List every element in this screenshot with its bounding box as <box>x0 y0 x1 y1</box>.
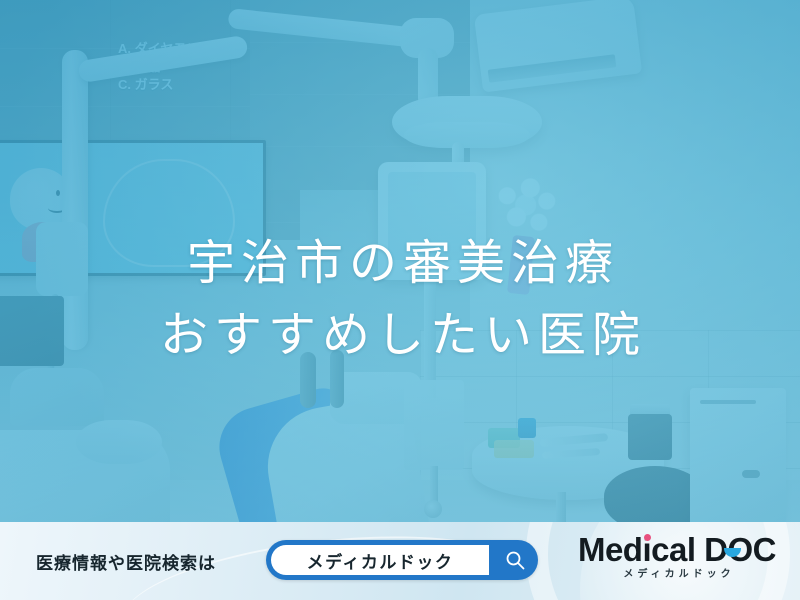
search-icon[interactable] <box>504 549 526 571</box>
page-title: 宇治市の審美治療 おすすめしたい医院 <box>0 228 800 372</box>
brand-wordmark: Medical DOC <box>578 531 776 568</box>
search-pill[interactable]: メディカルドック <box>266 540 538 580</box>
brand-logo[interactable]: Medical DOC メディカルドック <box>572 532 782 586</box>
logo-i-dot <box>644 534 651 541</box>
banner-image: A. ダイヤモンド B. 水晶 C. ガラス <box>0 0 800 600</box>
brand-wordmark-row: Medical DOC <box>578 532 776 568</box>
title-line-2: おすすめしたい医院 <box>0 300 800 372</box>
title-line-1: 宇治市の審美治療 <box>0 228 800 300</box>
search-input-value: メディカルドック <box>307 548 454 573</box>
search-input[interactable]: メディカルドック <box>271 545 489 575</box>
brand-kana: メディカルドック <box>572 568 782 582</box>
bottom-bar-lead-text: 医療情報や医院検索は <box>36 549 216 574</box>
